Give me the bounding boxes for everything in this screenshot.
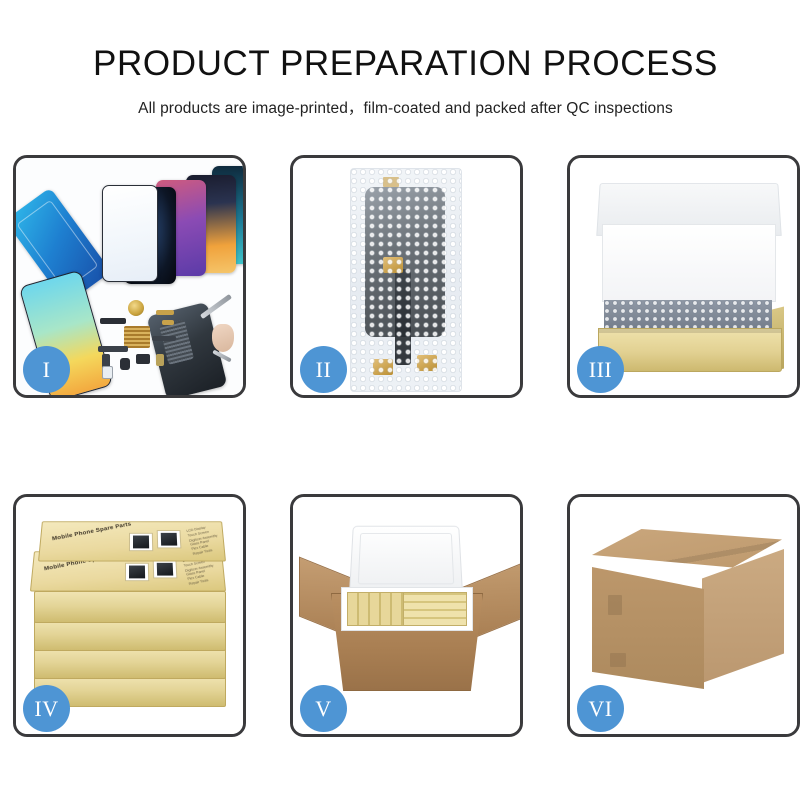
carton-front-face [592,567,704,689]
carton-tape-lower [610,653,626,667]
hand-holding-icon [212,324,234,352]
tape-tab-top-icon [383,177,399,187]
process-step-card-6[interactable]: VI [567,494,800,737]
battery-connector-icon [156,354,164,366]
bubble-wrap-bag-icon [350,168,462,392]
speaker-part-icon [100,318,126,324]
step-badge-2: II [300,346,347,393]
step-badge-1: I [23,346,70,393]
step-badge-4: IV [23,685,70,732]
step-badge-6: VI [577,685,624,732]
box-window-front-1 [125,563,149,581]
foam-lid-icon [349,526,463,593]
page-header: PRODUCT PREPARATION PROCESS All products… [0,0,811,118]
process-step-card-4[interactable]: Mobile Phone Spare Parts LCD Display Tou… [13,494,246,737]
gold-box-bottom-3 [34,619,226,651]
process-step-card-5[interactable]: V [290,494,523,737]
gold-coil-part-icon [128,300,144,316]
gold-connector-2-icon [162,320,174,325]
carton-tape-upper [608,595,622,615]
flex-cable-icon [98,346,128,352]
product-preparation-process-page: PRODUCT PREPARATION PROCESS All products… [0,0,811,811]
gold-connector-lower-right-icon [417,355,437,371]
process-step-card-1[interactable]: I [13,155,246,398]
camera-module-icon [136,354,150,364]
gold-connector-upper-icon [383,257,403,273]
sealed-carton-icon [592,529,782,697]
gold-box-front-icon [598,328,782,372]
wrapped-flex-cable-icon [395,269,411,365]
ic-chip-grid-icon [124,326,150,348]
carton-side-face [702,549,784,683]
process-step-card-3[interactable]: III [567,155,800,398]
gold-box-labeled-back: Mobile Phone Spare Parts LCD Display Tou… [38,521,226,561]
page-title: PRODUCT PREPARATION PROCESS [0,0,811,81]
step-badge-5: V [300,685,347,732]
page-subtitle: All products are image-printed，film-coat… [0,81,811,118]
gold-connector-lower-left-icon [373,359,393,375]
box-window-back-1 [129,533,153,551]
box-window-back-2 [157,530,182,548]
gold-boxes-row-2-icon [403,592,467,626]
gold-box-stack: Mobile Phone Spare Parts LCD Display Tou… [32,523,232,713]
button-part-icon [120,358,130,370]
gold-box-label-back: Mobile Phone Spare Parts [52,521,132,542]
bubble-wrapped-contents-icon [604,300,772,330]
white-foam-sheet-icon [602,224,776,302]
process-step-card-2[interactable]: II [290,155,523,398]
small-screen-part-icon [102,366,113,379]
process-step-grid: I II [13,155,801,745]
box-window-front-2 [153,560,178,578]
gold-box-bottom-2 [34,647,226,679]
clear-glass-panel-icon [102,185,158,282]
flex-cable-3-icon [152,336,176,341]
gold-box-bottom-4 [34,591,226,623]
step-badge-3: III [577,346,624,393]
gold-connector-icon [156,310,174,315]
